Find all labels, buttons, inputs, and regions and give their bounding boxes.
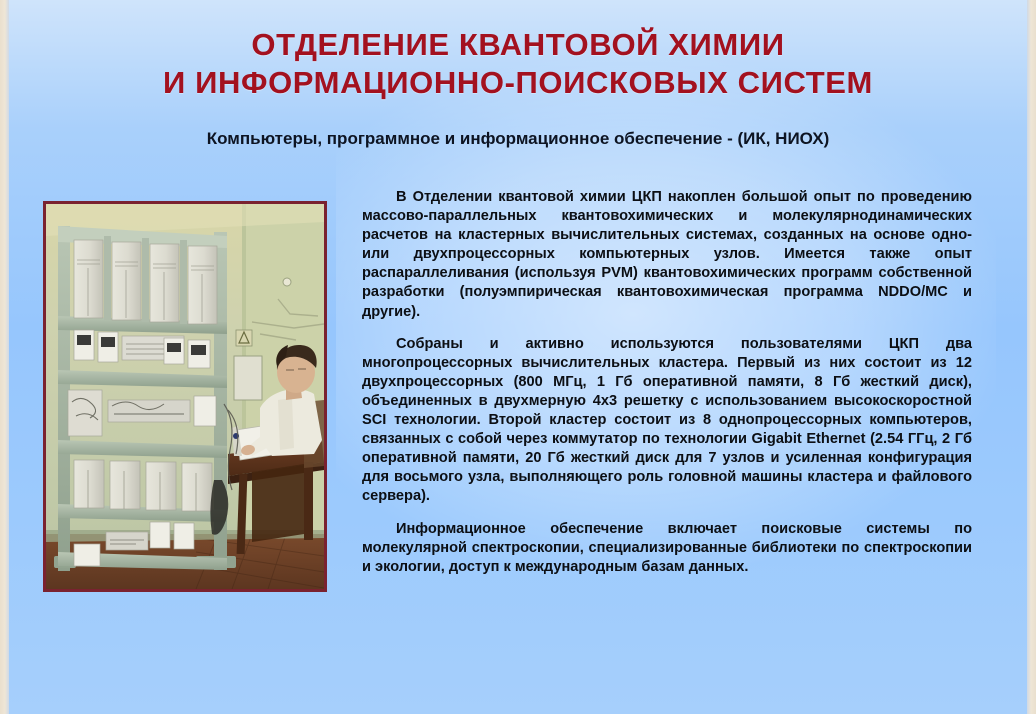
paragraph-3: Информационное обеспечение включает поис…: [362, 520, 972, 577]
body-text-column: В Отделении квантовой химии ЦКП накоплен…: [362, 188, 972, 577]
cluster-photo: [46, 204, 324, 589]
page-title: ОТДЕЛЕНИЕ КВАНТОВОЙ ХИМИИ И ИНФОРМАЦИОНН…: [0, 26, 1036, 102]
right-edge-strip: [1027, 0, 1036, 714]
left-edge-strip: [0, 0, 9, 714]
cluster-photo-frame: [43, 201, 327, 592]
slide: ОТДЕЛЕНИЕ КВАНТОВОЙ ХИМИИ И ИНФОРМАЦИОНН…: [0, 0, 1036, 714]
page-subtitle: Компьютеры, программное и информационное…: [0, 128, 1036, 150]
paragraph-2: Собраны и активно используются пользоват…: [362, 335, 972, 507]
paragraph-1: В Отделении квантовой химии ЦКП накоплен…: [362, 188, 972, 322]
title-line-2: И ИНФОРМАЦИОННО-ПОИСКОВЫХ СИСТЕМ: [0, 64, 1036, 102]
title-line-1: ОТДЕЛЕНИЕ КВАНТОВОЙ ХИМИИ: [0, 26, 1036, 64]
